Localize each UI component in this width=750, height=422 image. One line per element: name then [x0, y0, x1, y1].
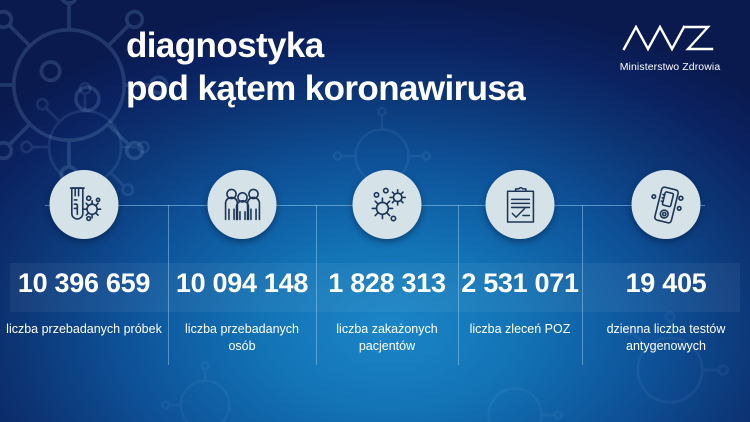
stat-column: 10 396 659 liczba przebadanych próbek	[0, 0, 168, 422]
virus-particles-icon	[353, 170, 422, 239]
stat-value: 10 396 659	[0, 268, 168, 299]
stat-caption: liczba zakażonych pacjentów	[316, 321, 458, 355]
stat-caption: dzienna liczba testów antygenowych	[582, 321, 750, 355]
clipboard-check-icon	[486, 170, 555, 239]
stat-column: 2 531 071 liczba zleceń POZ	[458, 0, 582, 422]
stat-caption: liczba przebadanych próbek	[0, 321, 168, 338]
infographic-root: diagnostyka pod kątem koronawirusa Minis…	[0, 0, 750, 422]
test-tube-virus-icon	[50, 170, 119, 239]
stat-column: 19 405 dzienna liczba testów antygenowyc…	[582, 0, 750, 422]
stats-row: 10 396 659 liczba przebadanych próbek	[0, 0, 750, 422]
stat-column: 10 094 148 liczba przebadanych osób	[168, 0, 316, 422]
stat-value: 1 828 313	[316, 268, 458, 299]
three-people-icon	[208, 170, 277, 239]
stat-caption: liczba przebadanych osób	[168, 321, 316, 355]
antigen-test-cassette-icon	[632, 170, 701, 239]
stat-column: 1 828 313 liczba zakażonych pacjentów	[316, 0, 458, 422]
stat-value: 2 531 071	[458, 268, 582, 299]
stat-value: 10 094 148	[168, 268, 316, 299]
stat-value: 19 405	[582, 268, 750, 299]
stat-caption: liczba zleceń POZ	[458, 321, 582, 338]
